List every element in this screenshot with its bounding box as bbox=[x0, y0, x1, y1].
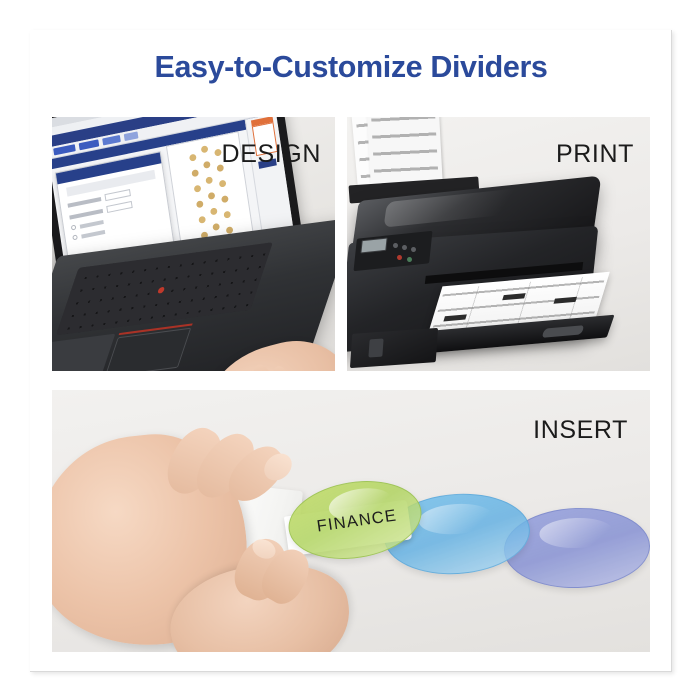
field-input bbox=[104, 189, 131, 201]
panel-label-design: DESIGN bbox=[222, 140, 321, 169]
panel-design: DESIGN bbox=[52, 117, 335, 371]
printer-port bbox=[368, 338, 383, 357]
radio-icon bbox=[71, 225, 77, 231]
radio-icon bbox=[72, 234, 78, 240]
field-label bbox=[67, 196, 101, 207]
printer-base bbox=[350, 328, 438, 368]
palm-rest bbox=[52, 334, 115, 371]
option-label bbox=[80, 219, 104, 228]
laptop-touchpad bbox=[104, 328, 191, 371]
panel-label-insert: INSERT bbox=[533, 416, 628, 445]
field-label bbox=[69, 208, 103, 219]
option-label bbox=[81, 229, 105, 238]
panel-print: PRINT bbox=[347, 117, 650, 371]
tab-highlight bbox=[418, 502, 495, 537]
tab-highlight bbox=[539, 517, 615, 549]
field-input bbox=[106, 201, 133, 213]
product-feature-card: Easy-to-Customize Dividers bbox=[30, 30, 672, 672]
page-title: Easy-to-Customize Dividers bbox=[30, 50, 672, 85]
panel-label-print: PRINT bbox=[556, 140, 634, 169]
panel-insert: FINANCE INSERT bbox=[52, 390, 650, 652]
